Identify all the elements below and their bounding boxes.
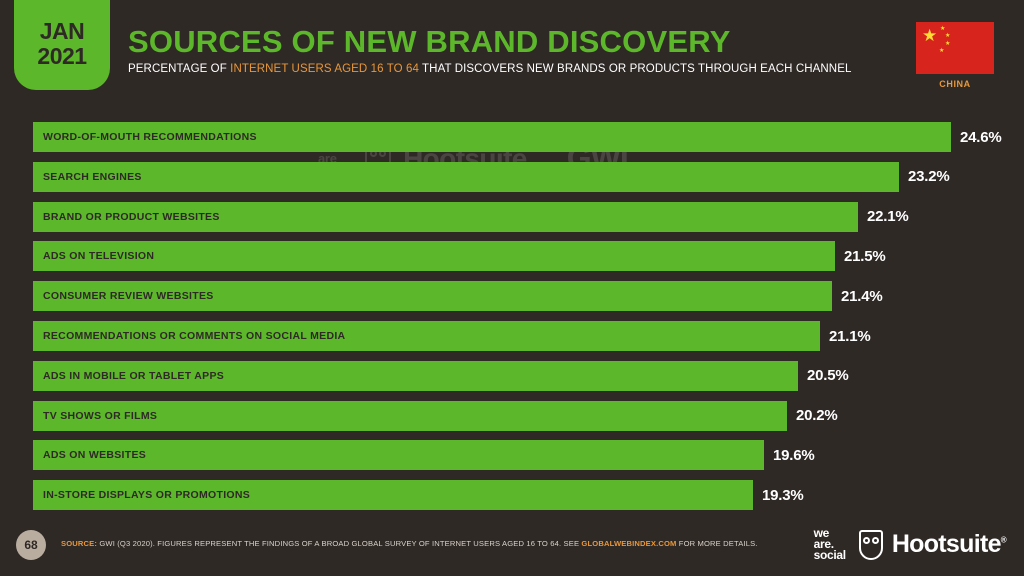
- bar-row: RECOMMENDATIONS OR COMMENTS ON SOCIAL ME…: [33, 321, 910, 351]
- bar-category-label: ADS ON WEBSITES: [43, 449, 146, 461]
- bar-category-label: RECOMMENDATIONS OR COMMENTS ON SOCIAL ME…: [43, 330, 345, 342]
- bar-value-label: 22.1%: [867, 202, 909, 232]
- country-label: CHINA: [916, 79, 994, 89]
- flag-star-large: ★: [922, 27, 937, 44]
- brand-logos: weare.social Hootsuite®: [814, 528, 1006, 561]
- source-link[interactable]: GLOBALWEBINDEX.COM: [581, 539, 676, 548]
- subtitle-part-1: PERCENTAGE OF: [128, 63, 230, 75]
- bar-category-label: WORD-OF-MOUTH RECOMMENDATIONS: [43, 131, 257, 143]
- date-badge: JAN 2021: [14, 0, 110, 90]
- slide-header: JAN 2021 SOURCES OF NEW BRAND DISCOVERY …: [0, 0, 1024, 110]
- source-text-last: FOR MORE DETAILS.: [677, 539, 758, 548]
- bar: WORD-OF-MOUTH RECOMMENDATIONS: [33, 122, 951, 152]
- bar-value-label: 21.5%: [844, 241, 886, 271]
- source-label: SOURCE:: [61, 539, 97, 548]
- bar-row: BRAND OR PRODUCT WEBSITES22.1%: [33, 202, 948, 232]
- bar: ADS ON TELEVISION: [33, 241, 835, 271]
- china-flag-icon: ★ ★ ★ ★ ★: [916, 22, 994, 74]
- slide-footer: 68 SOURCE: GWI (Q3 2020). FIGURES REPRES…: [0, 514, 1024, 576]
- source-text-first: GWI (Q3 2020). FIGURES REPRESENT THE FIN…: [97, 539, 581, 548]
- bar: BRAND OR PRODUCT WEBSITES: [33, 202, 858, 232]
- bar-row: ADS ON WEBSITES19.6%: [33, 440, 854, 470]
- bar-category-label: ADS IN MOBILE OR TABLET APPS: [43, 370, 224, 382]
- bar: SEARCH ENGINES: [33, 162, 899, 192]
- bar-row: ADS ON TELEVISION21.5%: [33, 241, 925, 271]
- bar-value-label: 19.6%: [773, 440, 815, 470]
- flag-star-small-2: ★: [945, 33, 950, 39]
- bar-value-label: 23.2%: [908, 162, 950, 192]
- subtitle-part-2: THAT DISCOVERS NEW BRANDS OR PRODUCTS TH…: [419, 63, 852, 75]
- page-number-badge: 68: [16, 530, 46, 560]
- date-year: 2021: [37, 44, 86, 69]
- bar-category-label: TV SHOWS OR FILMS: [43, 410, 157, 422]
- we-are-social-logo: weare.social: [814, 528, 846, 561]
- bar-row: TV SHOWS OR FILMS20.2%: [33, 401, 877, 431]
- page-title: SOURCES OF NEW BRAND DISCOVERY: [128, 24, 731, 60]
- country-block: ★ ★ ★ ★ ★ CHINA: [916, 22, 994, 89]
- bar: CONSUMER REVIEW WEBSITES: [33, 281, 832, 311]
- bar: TV SHOWS OR FILMS: [33, 401, 787, 431]
- bar-chart: WORD-OF-MOUTH RECOMMENDATIONS24.6%SEARCH…: [0, 112, 1024, 512]
- bar-value-label: 24.6%: [960, 122, 1002, 152]
- date-month: JAN: [40, 19, 85, 44]
- bar-value-label: 21.1%: [829, 321, 871, 351]
- bar-category-label: IN-STORE DISPLAYS OR PROMOTIONS: [43, 489, 250, 501]
- flag-star-small-4: ★: [939, 48, 944, 54]
- bar: ADS ON WEBSITES: [33, 440, 764, 470]
- subtitle-highlight: INTERNET USERS AGED 16 TO 64: [230, 63, 419, 75]
- bar-row: ADS IN MOBILE OR TABLET APPS20.5%: [33, 361, 888, 391]
- hootsuite-logo-text: Hootsuite®: [892, 530, 1006, 559]
- page-subtitle: PERCENTAGE OF INTERNET USERS AGED 16 TO …: [128, 63, 851, 75]
- bar: IN-STORE DISPLAYS OR PROMOTIONS: [33, 480, 753, 510]
- bar: RECOMMENDATIONS OR COMMENTS ON SOCIAL ME…: [33, 321, 820, 351]
- bar-value-label: 20.5%: [807, 361, 849, 391]
- source-note: SOURCE: GWI (Q3 2020). FIGURES REPRESENT…: [61, 539, 758, 548]
- bar-category-label: CONSUMER REVIEW WEBSITES: [43, 290, 214, 302]
- bar-row: SEARCH ENGINES23.2%: [33, 162, 989, 192]
- bar-value-label: 20.2%: [796, 401, 838, 431]
- hootsuite-owl-icon: [859, 530, 883, 560]
- bar-row: IN-STORE DISPLAYS OR PROMOTIONS19.3%: [33, 480, 843, 510]
- bar-row: WORD-OF-MOUTH RECOMMENDATIONS24.6%: [33, 122, 1024, 152]
- bar-category-label: BRAND OR PRODUCT WEBSITES: [43, 211, 220, 223]
- bar-row: CONSUMER REVIEW WEBSITES21.4%: [33, 281, 922, 311]
- bar-category-label: ADS ON TELEVISION: [43, 250, 154, 262]
- bar-value-label: 21.4%: [841, 281, 883, 311]
- flag-star-small-1: ★: [940, 26, 945, 32]
- bar-category-label: SEARCH ENGINES: [43, 171, 142, 183]
- flag-star-small-3: ★: [945, 41, 950, 47]
- bar-value-label: 19.3%: [762, 480, 804, 510]
- bar: ADS IN MOBILE OR TABLET APPS: [33, 361, 798, 391]
